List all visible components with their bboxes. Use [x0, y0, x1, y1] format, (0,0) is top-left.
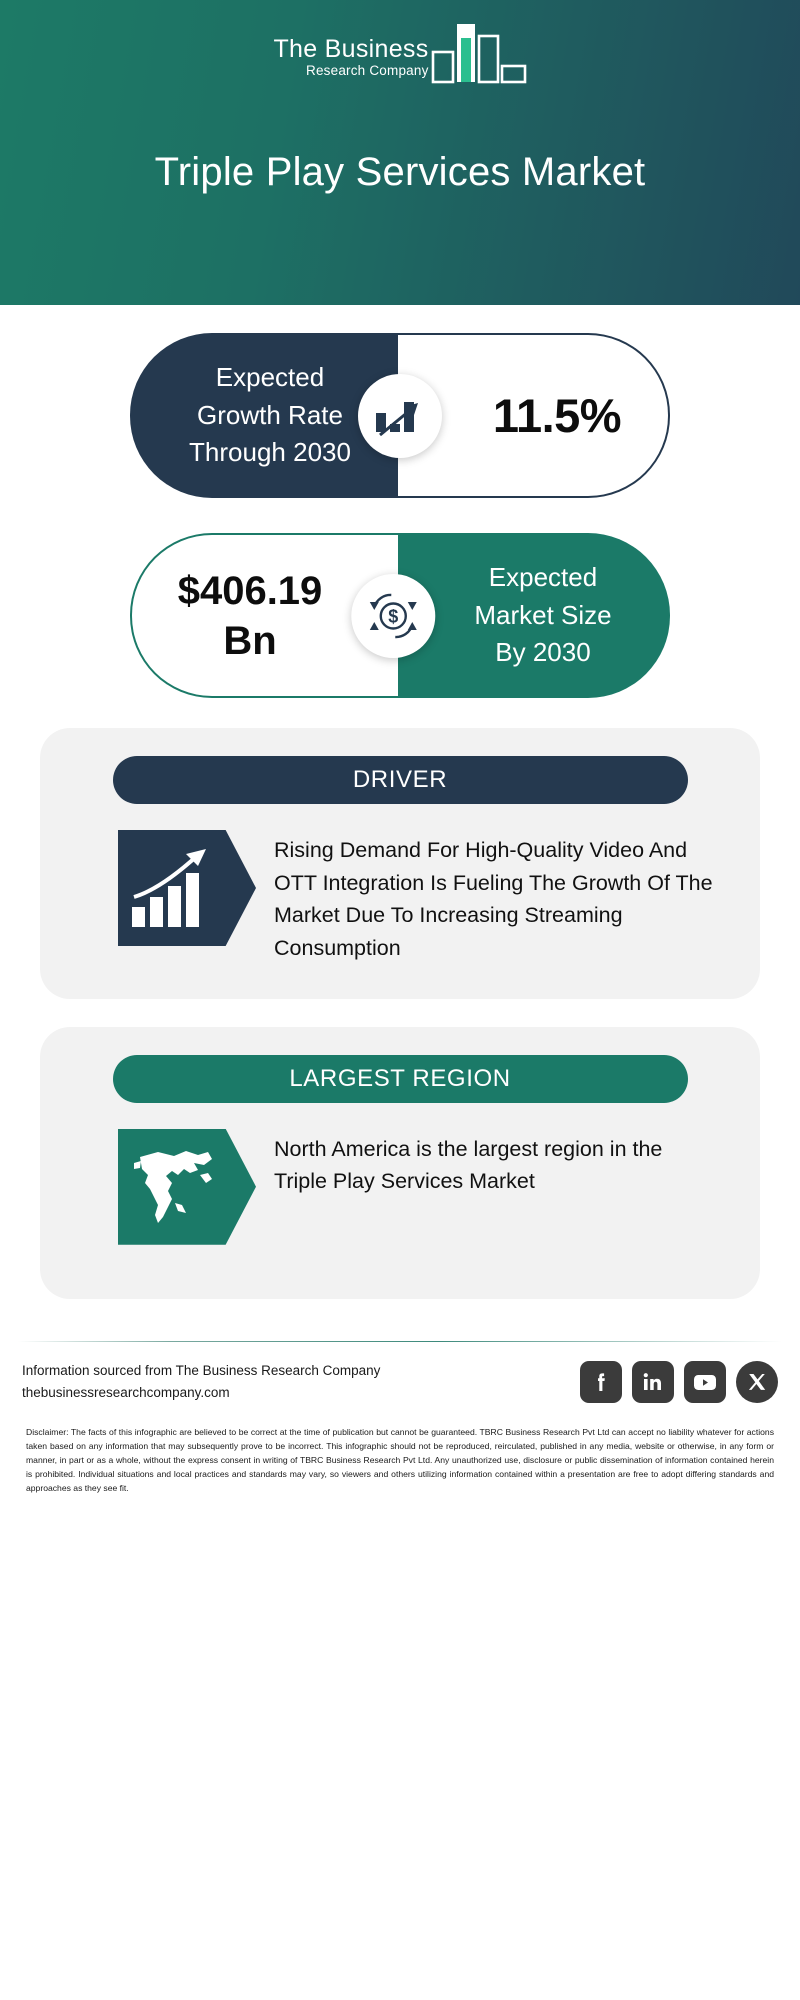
- facebook-link[interactable]: [580, 1361, 622, 1403]
- driver-badge: DRIVER: [113, 756, 688, 804]
- footer: Information sourced from The Business Re…: [0, 1341, 800, 1496]
- logo-line-1: The Business: [273, 36, 428, 62]
- header-banner: The Business Research Company Triple Pla…: [0, 0, 800, 305]
- bar-chart-growth-icon: [128, 845, 220, 931]
- dollar-cycle-badge: $: [351, 574, 435, 658]
- driver-icon-flag: [118, 830, 256, 946]
- facebook-icon: [589, 1370, 613, 1394]
- market-size-value: $406.19 Bn: [178, 566, 357, 666]
- social-links: [580, 1361, 778, 1403]
- market-size-label: Expected Market Size By 2030: [398, 533, 670, 698]
- footer-source-line-1: Information sourced from The Business Re…: [22, 1360, 380, 1382]
- page-title: Triple Play Services Market: [0, 150, 800, 195]
- x-twitter-link[interactable]: [736, 1361, 778, 1403]
- growth-rate-card: Expected Growth Rate Through 2030 11.5%: [130, 333, 670, 498]
- largest-region-section: LARGEST REGION North America is the larg…: [40, 1027, 760, 1299]
- linkedin-link[interactable]: [632, 1361, 674, 1403]
- north-america-map-icon: [128, 1143, 224, 1231]
- driver-section: DRIVER Rising Demand For High-Quality Vi…: [40, 728, 760, 999]
- footer-divider: [18, 1341, 782, 1342]
- bar-chart-logo-mark-icon: [431, 22, 527, 84]
- company-logo: The Business Research Company: [0, 22, 800, 84]
- driver-text: Rising Demand For High-Quality Video And…: [274, 830, 720, 965]
- youtube-icon: [692, 1372, 718, 1392]
- largest-region-badge: LARGEST REGION: [113, 1055, 688, 1103]
- disclaimer-text: Disclaimer: The facts of this infographi…: [18, 1426, 782, 1496]
- growth-rate-value: 11.5%: [445, 388, 621, 443]
- market-size-card: $406.19 Bn Expected Market Size By 2030 …: [130, 533, 670, 698]
- logo-wordmark: The Business Research Company: [273, 36, 428, 84]
- footer-main-row: Information sourced from The Business Re…: [18, 1360, 782, 1405]
- growth-rate-label-text: Expected Growth Rate Through 2030: [189, 359, 351, 472]
- linkedin-icon: [641, 1370, 665, 1394]
- footer-source: Information sourced from The Business Re…: [22, 1360, 380, 1405]
- market-size-label-text: Expected Market Size By 2030: [474, 559, 611, 672]
- footer-source-line-2[interactable]: thebusinessresearchcompany.com: [22, 1382, 380, 1404]
- stats-band: Expected Growth Rate Through 2030 11.5% …: [0, 333, 800, 698]
- driver-badge-label: DRIVER: [353, 766, 447, 794]
- largest-region-body: North America is the largest region in t…: [40, 1103, 760, 1245]
- largest-region-badge-label: LARGEST REGION: [289, 1065, 510, 1093]
- growth-chart-arrow-badge: [358, 374, 442, 458]
- x-twitter-icon: [746, 1371, 768, 1393]
- infographic-page: The Business Research Company Triple Pla…: [0, 0, 800, 2000]
- dollar-cycle-icon: $: [367, 590, 419, 642]
- youtube-link[interactable]: [684, 1361, 726, 1403]
- largest-region-icon-flag: [118, 1129, 256, 1245]
- largest-region-text: North America is the largest region in t…: [274, 1129, 720, 1198]
- driver-body: Rising Demand For High-Quality Video And…: [40, 804, 760, 965]
- svg-text:$: $: [388, 606, 398, 626]
- logo-line-2: Research Company: [273, 62, 428, 80]
- growth-chart-arrow-icon: [374, 393, 426, 439]
